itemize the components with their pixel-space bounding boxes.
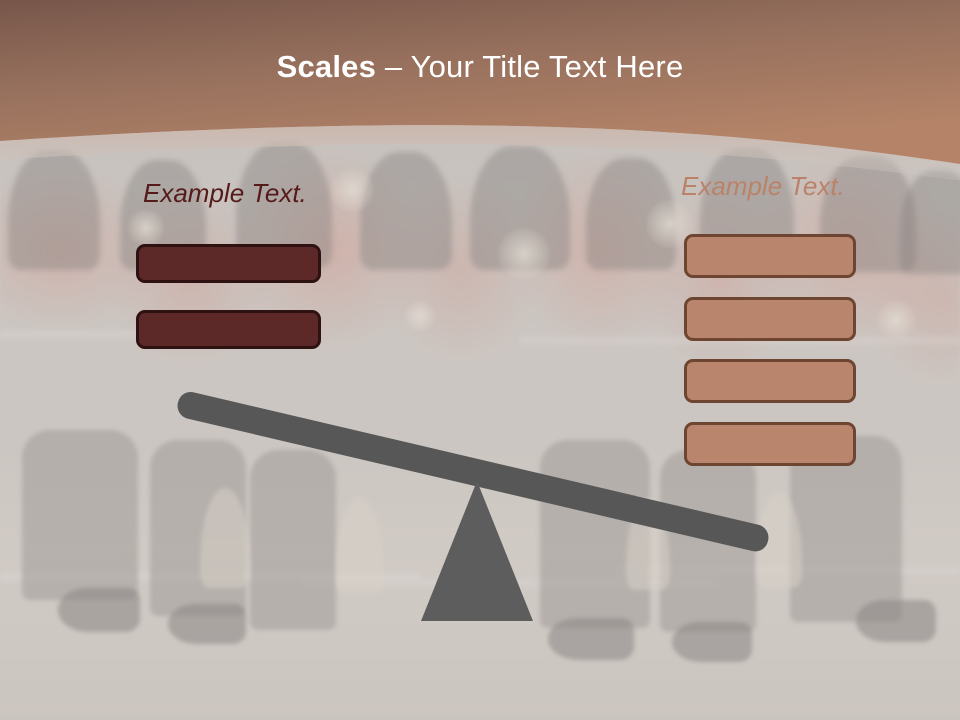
scale-fulcrum[interactable] (0, 0, 960, 720)
scale-fulcrum-triangle (0, 0, 960, 720)
slide-canvas: Scales – Your Title Text Here Example Te… (0, 0, 960, 720)
